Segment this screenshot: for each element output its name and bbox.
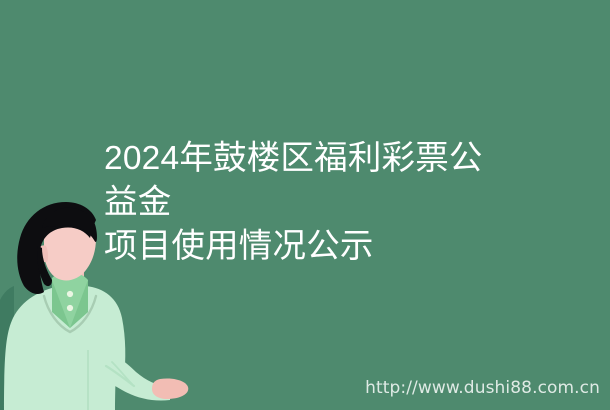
- cover-image: 2024年鼓楼区福利彩票公益金 项目使用情况公示 http://www.dush…: [0, 0, 610, 410]
- title-line-2: 项目使用情况公示: [104, 225, 504, 269]
- page-title: 2024年鼓楼区福利彩票公益金 项目使用情况公示: [104, 137, 504, 269]
- watermark-url: http://www.dushi88.com.cn: [365, 379, 600, 398]
- title-line-1: 2024年鼓楼区福利彩票公益金: [104, 137, 504, 225]
